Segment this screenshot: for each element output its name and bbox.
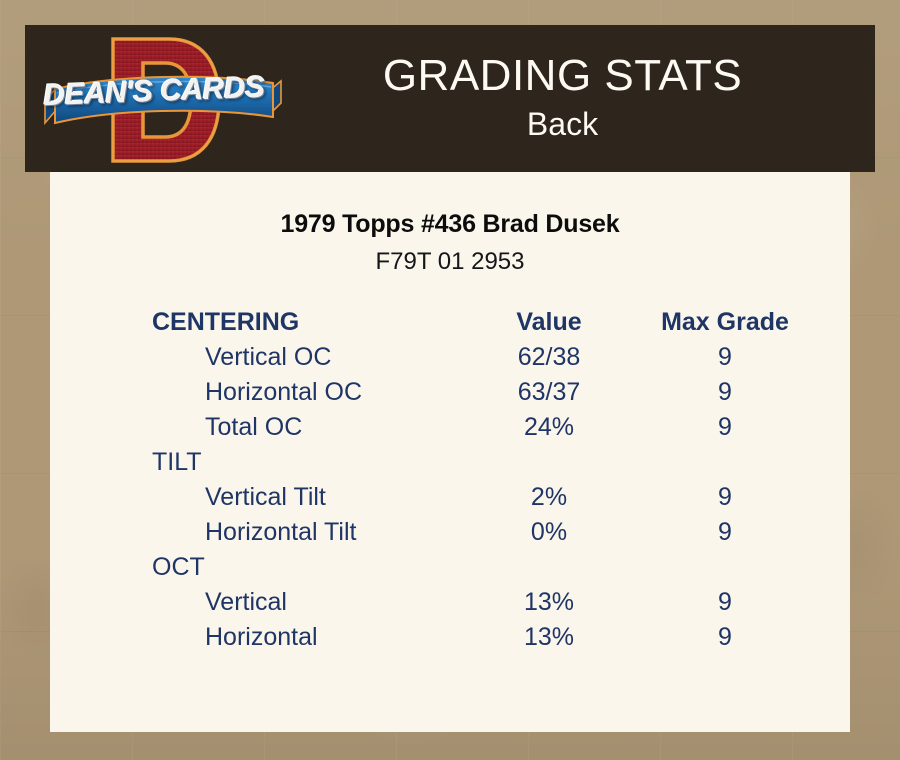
page-subtitle: Back [290, 104, 835, 144]
stat-label: Total OC [50, 410, 450, 445]
stat-max-grade: 9 [650, 410, 850, 445]
stat-value: 2% [450, 480, 650, 515]
deans-cards-logo[interactable]: DEAN'S CARDS [25, 25, 290, 172]
stat-max-grade: 9 [650, 340, 850, 375]
stat-max-grade: 9 [650, 620, 850, 655]
section-header-row: OCT [50, 550, 850, 585]
table-row: Vertical OC62/389 [50, 340, 850, 375]
section-header-row: TILT [50, 445, 850, 480]
stats-table-body: Vertical OC62/389Horizontal OC63/379Tota… [50, 340, 850, 655]
column-header-max-grade: Max Grade [650, 305, 850, 340]
header-titles: GRADING STATS Back [290, 53, 875, 143]
stats-table-head: CENTERING Value Max Grade [50, 305, 850, 340]
stat-value: 63/37 [450, 375, 650, 410]
stat-max-grade: 9 [650, 480, 850, 515]
table-row: Total OC24%9 [50, 410, 850, 445]
logo-ribbon-icon [43, 73, 283, 143]
table-row: Horizontal13%9 [50, 620, 850, 655]
stat-value: 13% [450, 585, 650, 620]
column-header-centering: CENTERING [50, 305, 450, 340]
stat-max-grade: 9 [650, 375, 850, 410]
table-row: Vertical13%9 [50, 585, 850, 620]
stat-max-grade: 9 [650, 585, 850, 620]
stat-label: Horizontal [50, 620, 450, 655]
stat-max-grade: 9 [650, 515, 850, 550]
stat-value: 24% [450, 410, 650, 445]
table-row: Vertical Tilt2%9 [50, 480, 850, 515]
table-row: Horizontal OC63/379 [50, 375, 850, 410]
page-title: GRADING STATS [290, 53, 835, 99]
stat-label: Vertical Tilt [50, 480, 450, 515]
header-bar: DEAN'S CARDS GRADING STATS Back [25, 25, 875, 172]
section-title: OCT [50, 550, 850, 585]
grading-stats-table: CENTERING Value Max Grade Vertical OC62/… [50, 305, 850, 655]
card-heading: 1979 Topps #436 Brad Dusek [50, 210, 850, 239]
stat-value: 0% [450, 515, 650, 550]
stat-label: Horizontal Tilt [50, 515, 450, 550]
table-row: Horizontal Tilt0%9 [50, 515, 850, 550]
table-header-row: CENTERING Value Max Grade [50, 305, 850, 340]
content-panel: 1979 Topps #436 Brad Dusek F79T 01 2953 … [50, 172, 850, 732]
section-title: TILT [50, 445, 850, 480]
stat-label: Vertical [50, 585, 450, 620]
stat-value: 62/38 [450, 340, 650, 375]
stat-label: Vertical OC [50, 340, 450, 375]
stat-value: 13% [450, 620, 650, 655]
column-header-value: Value [450, 305, 650, 340]
card-serial: F79T 01 2953 [50, 248, 850, 276]
stat-label: Horizontal OC [50, 375, 450, 410]
